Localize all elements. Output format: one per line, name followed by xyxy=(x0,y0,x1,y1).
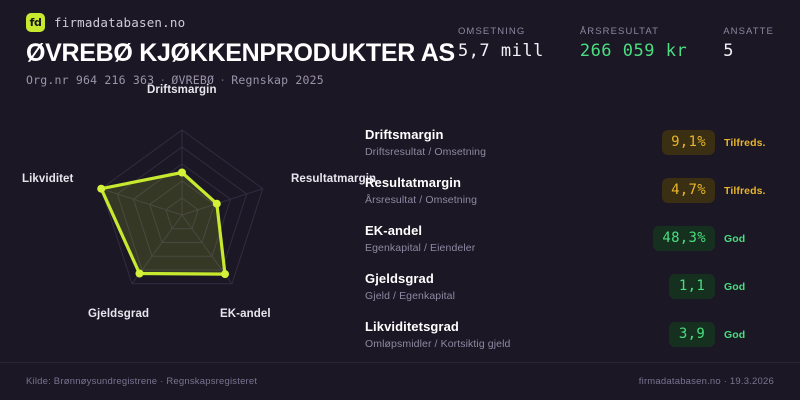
radar-axis-label-ek-andel: EK-andel xyxy=(220,308,271,320)
radar-chart: DriftsmarginResultatmarginEK-andelGjelds… xyxy=(0,88,355,362)
metric-name: Driftsmargin xyxy=(365,127,662,143)
metric-row-resultatmargin: Resultatmargin Årsresultat / Omsetning 4… xyxy=(365,172,776,209)
footer-stamp: firmadatabasen.no · 19.3.2026 xyxy=(639,376,774,387)
header-stats: OMSETNING 5,7 mill ÅRSRESULTAT 266 059 k… xyxy=(458,26,774,61)
stat-value: 5 xyxy=(723,41,774,61)
metric-name: Gjeldsgrad xyxy=(365,271,669,287)
metric-value-badge: 3,9 xyxy=(669,322,715,347)
radar-data-point xyxy=(213,200,221,208)
metric-formula: Omløpsmidler / Kortsiktig gjeld xyxy=(365,338,669,350)
metric-text: EK-andel Egenkapital / Eiendeler xyxy=(365,223,653,253)
metric-rating: God xyxy=(724,233,776,245)
metric-rating: Tilfreds. xyxy=(724,137,776,149)
metric-formula: Årsresultat / Omsetning xyxy=(365,194,662,206)
footer-source: Kilde: Brønnøysundregistrene · Regnskaps… xyxy=(26,376,257,387)
stat-omsetning: OMSETNING 5,7 mill xyxy=(458,26,544,61)
metric-name: Resultatmargin xyxy=(365,175,662,191)
stat-value: 5,7 mill xyxy=(458,41,544,61)
stat-ansatte: ANSATTE 5 xyxy=(723,26,774,61)
radar-chart-svg xyxy=(0,88,355,362)
company-meta: Org.nr 964 216 363·ØVREBØ·Regnskap 2025 xyxy=(26,73,776,87)
body: DriftsmarginResultatmarginEK-andelGjelds… xyxy=(0,88,800,362)
stat-label: OMSETNING xyxy=(458,26,544,37)
metric-row-ek-andel: EK-andel Egenkapital / Eiendeler 48,3% G… xyxy=(365,220,776,257)
brand-name: firmadatabasen.no xyxy=(54,15,185,30)
metrics-list: Driftsmargin Driftsresultat / Omsetning … xyxy=(355,88,800,362)
metric-formula: Egenkapital / Eiendeler xyxy=(365,242,653,254)
stat-value: 266 059 kr xyxy=(580,41,687,61)
metric-row-gjeldsgrad: Gjeldsgrad Gjeld / Egenkapital 1,1 God xyxy=(365,268,776,305)
metric-formula: Gjeld / Egenkapital xyxy=(365,290,669,302)
metric-formula: Driftsresultat / Omsetning xyxy=(365,146,662,158)
radar-data-point xyxy=(221,270,229,278)
org-number: Org.nr 964 216 363 xyxy=(26,73,154,87)
metric-right: 48,3% God xyxy=(653,226,776,251)
metric-right: 3,9 God xyxy=(669,322,776,347)
metric-name: Likviditetsgrad xyxy=(365,319,669,335)
stat-label: ANSATTE xyxy=(723,26,774,37)
metric-right: 1,1 God xyxy=(669,274,776,299)
meta-separator-2: · xyxy=(214,73,231,87)
accounting-period: Regnskap 2025 xyxy=(231,73,324,87)
metric-rating: God xyxy=(724,281,776,293)
metric-right: 4,7% Tilfreds. xyxy=(662,178,776,203)
metric-rating: Tilfreds. xyxy=(724,185,776,197)
report-card: fd firmadatabasen.no ØVREBØ KJØKKENPRODU… xyxy=(0,0,800,400)
metric-row-likviditetsgrad: Likviditetsgrad Omløpsmidler / Kortsikti… xyxy=(365,316,776,353)
metric-name: EK-andel xyxy=(365,223,653,239)
radar-area xyxy=(101,173,225,275)
radar-axis-label-gjeldsgrad: Gjeldsgrad xyxy=(88,308,149,320)
metric-text: Likviditetsgrad Omløpsmidler / Kortsikti… xyxy=(365,319,669,349)
metric-rating: God xyxy=(724,329,776,341)
radar-data-point xyxy=(136,270,144,278)
metric-text: Resultatmargin Årsresultat / Omsetning xyxy=(365,175,662,205)
metric-value-badge: 9,1% xyxy=(662,130,715,155)
metric-text: Gjeldsgrad Gjeld / Egenkapital xyxy=(365,271,669,301)
metric-right: 9,1% Tilfreds. xyxy=(662,130,776,155)
metric-row-driftsmargin: Driftsmargin Driftsresultat / Omsetning … xyxy=(365,124,776,161)
radar-axis-label-likviditet: Likviditet xyxy=(22,173,73,185)
radar-data-point xyxy=(97,185,105,193)
radar-axis-label-driftsmargin: Driftsmargin xyxy=(147,84,217,96)
metric-text: Driftsmargin Driftsresultat / Omsetning xyxy=(365,127,662,157)
radar-data-point xyxy=(178,169,186,177)
metric-value-badge: 48,3% xyxy=(653,226,715,251)
stat-arsresultat: ÅRSRESULTAT 266 059 kr xyxy=(580,26,687,61)
stat-label: ÅRSRESULTAT xyxy=(580,26,687,37)
header: fd firmadatabasen.no ØVREBØ KJØKKENPRODU… xyxy=(0,0,800,88)
firmadatabasen-logo-icon: fd xyxy=(26,13,45,32)
metric-value-badge: 1,1 xyxy=(669,274,715,299)
footer: Kilde: Brønnøysundregistrene · Regnskaps… xyxy=(0,362,800,400)
radar-axis-label-resultatmargin: Resultatmargin xyxy=(291,173,376,185)
metric-value-badge: 4,7% xyxy=(662,178,715,203)
